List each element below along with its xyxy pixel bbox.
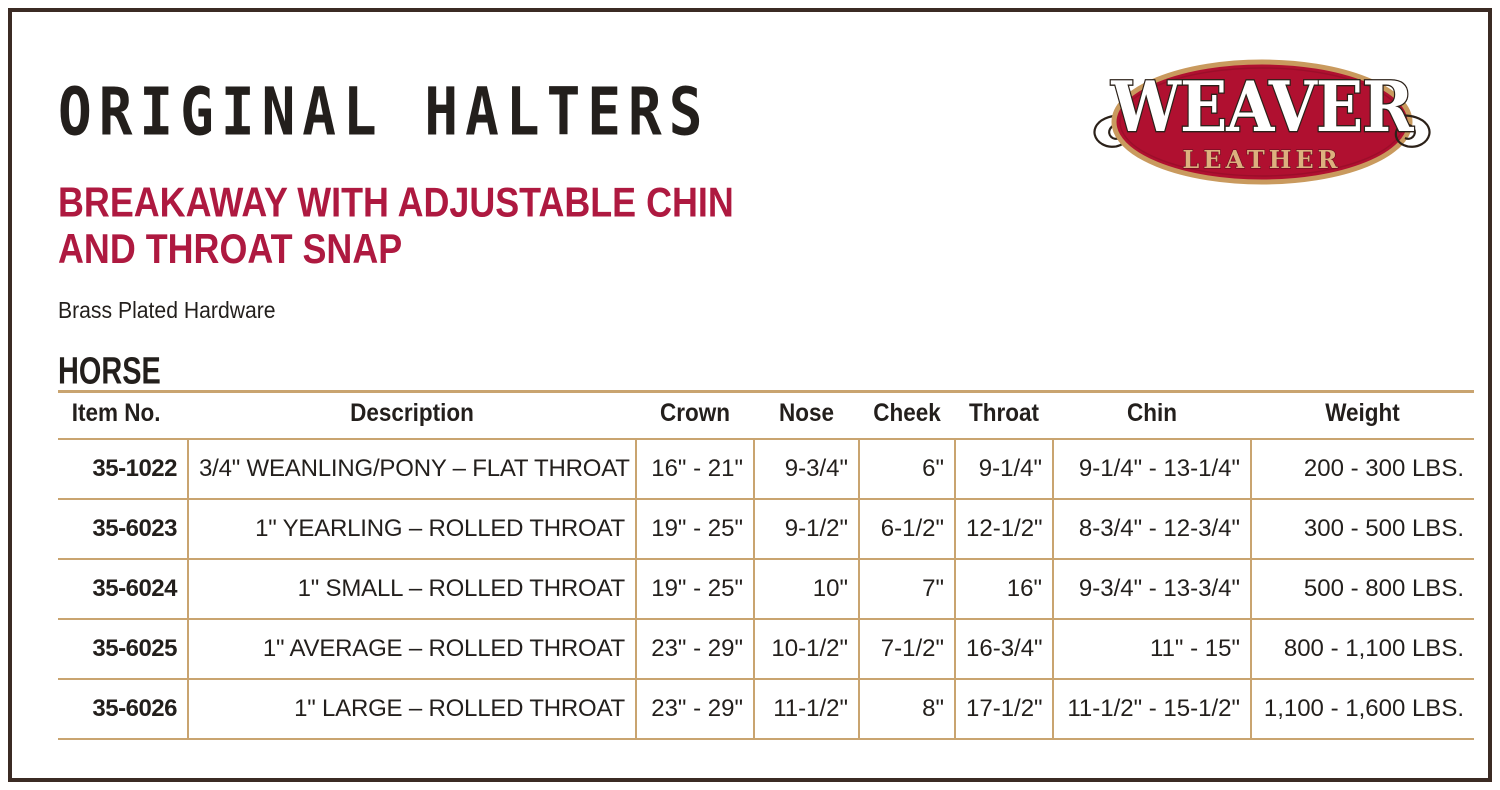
cell-nose: 9-1/2": [754, 499, 859, 559]
table-row: 35-6025 1" AVERAGE – ROLLED THROAT 23" -…: [58, 619, 1474, 679]
column-header-throat: Throat: [960, 392, 1048, 440]
weaver-leather-logo: WEAVER LEATHER: [1076, 38, 1448, 203]
cell-nose: 9-3/4": [754, 439, 859, 499]
logo-wordmark: WEAVER: [1110, 66, 1414, 148]
column-header-nose: Nose: [759, 392, 854, 440]
cell-throat: 17-1/2": [955, 679, 1053, 739]
column-header-cheek: Cheek: [864, 392, 950, 440]
cell-item-no: 35-6026: [58, 679, 188, 739]
cell-chin: 9-1/4" - 13-1/4": [1053, 439, 1251, 499]
hardware-note: Brass Plated Hardware: [58, 297, 276, 324]
cell-nose: 11-1/2": [754, 679, 859, 739]
section-heading-horse: HORSE: [58, 350, 161, 394]
table-row: 35-1022 3/4" WEANLING/PONY – FLAT THROAT…: [58, 439, 1474, 499]
cell-cheek: 8": [859, 679, 955, 739]
cell-cheek: 6": [859, 439, 955, 499]
cell-cheek: 7-1/2": [859, 619, 955, 679]
cell-throat: 9-1/4": [955, 439, 1053, 499]
page-subtitle: BREAKAWAY WITH ADJUSTABLE CHIN AND THROA…: [58, 180, 822, 273]
page-frame: ORIGINAL HALTERS BREAKAWAY WITH ADJUSTAB…: [8, 8, 1492, 782]
table-header-row: Item No. Description Crown Nose Cheek Th…: [58, 392, 1474, 440]
cell-weight: 1,100 - 1,600 LBS.: [1251, 679, 1474, 739]
subtitle-line-1: BREAKAWAY WITH ADJUSTABLE CHIN: [58, 180, 822, 226]
column-header-crown: Crown: [642, 392, 748, 440]
subtitle-line-2: AND THROAT SNAP: [58, 226, 822, 272]
column-header-chin: Chin: [1063, 392, 1241, 440]
column-header-description: Description: [210, 392, 613, 440]
cell-throat: 16": [955, 559, 1053, 619]
content-area: ORIGINAL HALTERS BREAKAWAY WITH ADJUSTAB…: [58, 32, 1454, 760]
cell-crown: 16" - 21": [636, 439, 754, 499]
cell-nose: 10-1/2": [754, 619, 859, 679]
cell-description: 1" AVERAGE – ROLLED THROAT: [188, 619, 636, 679]
cell-chin: 8-3/4" - 12-3/4": [1053, 499, 1251, 559]
svg-text:WEAVER: WEAVER: [1110, 66, 1414, 148]
cell-crown: 23" - 29": [636, 679, 754, 739]
cell-item-no: 35-6025: [58, 619, 188, 679]
svg-text:LEATHER: LEATHER: [1182, 145, 1341, 174]
spec-sheet-page: ORIGINAL HALTERS BREAKAWAY WITH ADJUSTAB…: [0, 0, 1500, 790]
cell-cheek: 7": [859, 559, 955, 619]
cell-item-no: 35-1022: [58, 439, 188, 499]
cell-throat: 12-1/2": [955, 499, 1053, 559]
cell-chin: 11" - 15": [1053, 619, 1251, 679]
column-header-item-no: Item No.: [65, 392, 182, 440]
column-header-weight: Weight: [1262, 392, 1463, 440]
cell-item-no: 35-6023: [58, 499, 188, 559]
cell-chin: 9-3/4" - 13-3/4": [1053, 559, 1251, 619]
cell-crown: 23" - 29": [636, 619, 754, 679]
cell-nose: 10": [754, 559, 859, 619]
cell-item-no: 35-6024: [58, 559, 188, 619]
table-row: 35-6024 1" SMALL – ROLLED THROAT 19" - 2…: [58, 559, 1474, 619]
table-row: 35-6026 1" LARGE – ROLLED THROAT 23" - 2…: [58, 679, 1474, 739]
cell-description: 3/4" WEANLING/PONY – FLAT THROAT: [188, 439, 636, 499]
cell-weight: 500 - 800 LBS.: [1251, 559, 1474, 619]
page-title: ORIGINAL HALTERS: [58, 80, 709, 146]
spec-table: Item No. Description Crown Nose Cheek Th…: [58, 390, 1474, 740]
cell-description: 1" SMALL – ROLLED THROAT: [188, 559, 636, 619]
cell-cheek: 6-1/2": [859, 499, 955, 559]
cell-description: 1" LARGE – ROLLED THROAT: [188, 679, 636, 739]
cell-chin: 11-1/2" - 15-1/2": [1053, 679, 1251, 739]
cell-weight: 300 - 500 LBS.: [1251, 499, 1474, 559]
cell-crown: 19" - 25": [636, 559, 754, 619]
spec-table-wrap: Item No. Description Crown Nose Cheek Th…: [58, 390, 1454, 740]
cell-weight: 800 - 1,100 LBS.: [1251, 619, 1474, 679]
cell-crown: 19" - 25": [636, 499, 754, 559]
cell-throat: 16-3/4": [955, 619, 1053, 679]
cell-description: 1" YEARLING – ROLLED THROAT: [188, 499, 636, 559]
logo-sub-brand: LEATHER: [1182, 145, 1341, 174]
table-row: 35-6023 1" YEARLING – ROLLED THROAT 19" …: [58, 499, 1474, 559]
cell-weight: 200 - 300 LBS.: [1251, 439, 1474, 499]
